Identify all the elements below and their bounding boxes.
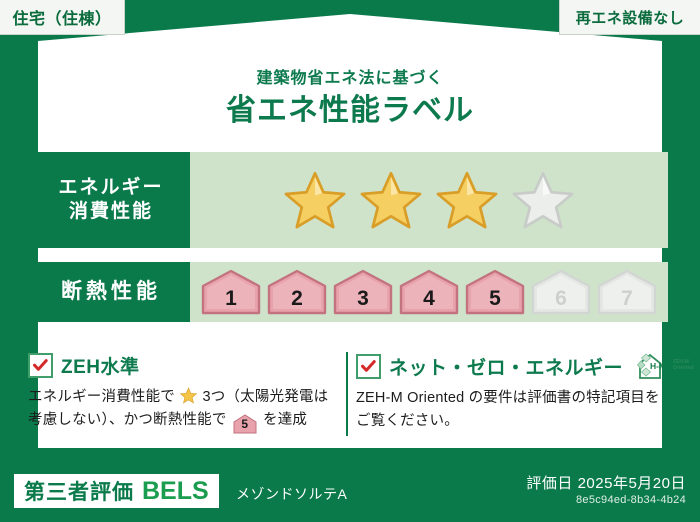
zeh-section-divider	[346, 352, 348, 436]
star-icon-filled	[360, 170, 422, 230]
insulation-level-value: 4	[423, 287, 435, 315]
bels-en-label: BELS	[142, 477, 209, 506]
insulation-label: 断熱性能	[61, 279, 161, 305]
energy-performance-label: 住宅（住棟） 再エネ設備なし 建築物省エネ法に基づく 省エネ性能ラベル エネルギ…	[0, 0, 700, 522]
evaluation-id: 8e5c94ed-8b34-4b24	[576, 494, 686, 506]
evaluation-date: 評価日 2025年5月20日	[526, 472, 686, 493]
zeh-standard-block: ZEH水準 エネルギー消費性能で 3つ（太陽光発電は考慮しない）、かつ断熱性能で…	[28, 352, 338, 433]
insulation-level-value: 7	[621, 287, 633, 315]
bels-jp-label: 第三者評価	[24, 476, 134, 506]
insulation-level-filled: 2	[266, 269, 328, 315]
insulation-performance-row: 断熱性能 1234567	[32, 262, 668, 322]
tag-renewable-equipment: 再エネ設備なし	[559, 0, 700, 35]
insulation-level-value: 6	[555, 287, 567, 315]
net-zero-energy-title: ネット・ゼロ・エネルギー	[389, 353, 623, 380]
insulation-level-value: 2	[291, 287, 303, 315]
energy-performance-row: エネルギー 消費性能	[32, 152, 668, 248]
insulation-level-filled: 4	[398, 269, 460, 315]
zeh-standard-description: エネルギー消費性能で 3つ（太陽光発電は考慮しない）、かつ断熱性能で 5 を達成	[28, 386, 338, 433]
insulation-level-value: 1	[225, 287, 237, 315]
zeh-standard-header: ZEH水準	[28, 352, 338, 379]
insulation-level-scale: 1234567	[190, 262, 668, 322]
net-zero-energy-block: ネット・ゼロ・エネルギー H-M ZEH-M Oriented ZEH-M Or…	[356, 352, 672, 434]
net-zero-energy-description: ZEH-M Oriented の要件は評価書の特記項目をご覧ください。	[356, 387, 672, 434]
zeh-text-pre: エネルギー消費性能で	[28, 389, 175, 405]
insulation-badge-icon: 5	[233, 414, 257, 432]
insulation-level-empty: 6	[530, 269, 592, 315]
check-icon	[28, 353, 53, 378]
building-name: メゾンドソルテA	[236, 484, 347, 504]
insulation-performance-label-block: 断熱性能	[32, 262, 190, 322]
insulation-level-filled: 5	[464, 269, 526, 315]
insulation-level-empty: 7	[596, 269, 658, 315]
svg-text:H-M: H-M	[650, 361, 666, 371]
star-rating	[190, 152, 668, 248]
energy-label-line2: 消費性能	[69, 200, 153, 224]
insulation-level-value: 5	[489, 287, 501, 315]
energy-performance-label-block: エネルギー 消費性能	[32, 152, 190, 248]
star-icon	[180, 387, 197, 404]
zeh-m-logo-caption: ZEH-M Oriented	[673, 360, 694, 372]
insulation-level-value: 3	[357, 287, 369, 315]
insulation-badge-value: 5	[233, 414, 257, 434]
label-title: 省エネ性能ラベル	[0, 85, 700, 129]
tag-building-type: 住宅（住棟）	[0, 0, 125, 35]
net-zero-energy-header: ネット・ゼロ・エネルギー H-M ZEH-M Oriented	[356, 352, 672, 380]
zeh-standard-title: ZEH水準	[61, 352, 140, 379]
tag-renewable-equipment-label: 再エネ設備なし	[576, 7, 685, 28]
zeh-text-post: を達成	[263, 412, 307, 428]
tag-building-type-label: 住宅（住棟）	[12, 5, 111, 29]
zeh-m-oriented-logo: H-M ZEH-M Oriented	[637, 352, 694, 380]
star-icon-filled	[436, 170, 498, 230]
insulation-level-filled: 3	[332, 269, 394, 315]
check-icon	[356, 354, 381, 379]
energy-label-line1: エネルギー	[58, 176, 163, 200]
star-icon-empty	[512, 170, 574, 230]
bels-badge: 第三者評価 BELS	[14, 474, 219, 508]
zeh-m-caption-line2: Oriented	[673, 365, 694, 371]
label-footer: 第三者評価 BELS メゾンドソルテA 評価日 2025年5月20日 8e5c9…	[0, 462, 700, 522]
insulation-level-filled: 1	[200, 269, 262, 315]
star-icon-filled	[284, 170, 346, 230]
